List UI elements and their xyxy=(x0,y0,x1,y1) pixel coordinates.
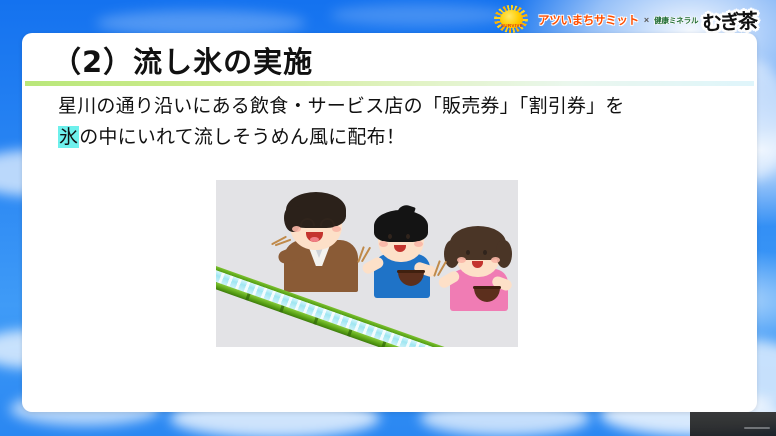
video-progress-indicator[interactable] xyxy=(744,427,770,429)
cloud-icon xyxy=(330,4,510,26)
person-man xyxy=(276,192,362,288)
person-girl xyxy=(444,226,518,306)
highlighted-word: 氷 xyxy=(58,126,79,148)
logo-sponsor-product: むぎ茶 xyxy=(702,4,757,36)
logo-survive-text: SURVIVE xyxy=(496,24,528,29)
body-line-2-rest: の中にいれて流しそうめん風に配布！ xyxy=(79,126,405,148)
video-control-bar[interactable] xyxy=(690,412,776,436)
body-line-1: 星川の通り沿いにある飲食・サービス店の「販売券」「割引券」を xyxy=(58,91,728,122)
slide-card: （2）流し氷の実施 星川の通り沿いにある飲食・サービス店の「販売券」「割引券」を… xyxy=(22,33,757,412)
logo-sponsor-prefix: 健康ミネラル xyxy=(654,15,698,26)
person-boy xyxy=(368,210,442,294)
title-underline xyxy=(25,81,754,86)
sun-burst-icon: SURVIVE xyxy=(490,5,534,35)
body-line-2: 氷の中にいれて流しそうめん風に配布！ xyxy=(58,122,728,153)
nagashi-somen-illustration xyxy=(216,180,518,347)
screen: SURVIVE アツいまちサミット × 健康ミネラル むぎ茶 （2）流し氷の実施… xyxy=(0,0,776,436)
logo-event-name: アツいまちサミット xyxy=(538,12,639,28)
page-title: （2）流し氷の実施 xyxy=(52,39,313,81)
slide-body-text: 星川の通り沿いにある飲食・サービス店の「販売券」「割引券」を 氷の中にいれて流し… xyxy=(58,91,728,153)
logo-separator: × xyxy=(643,15,650,25)
